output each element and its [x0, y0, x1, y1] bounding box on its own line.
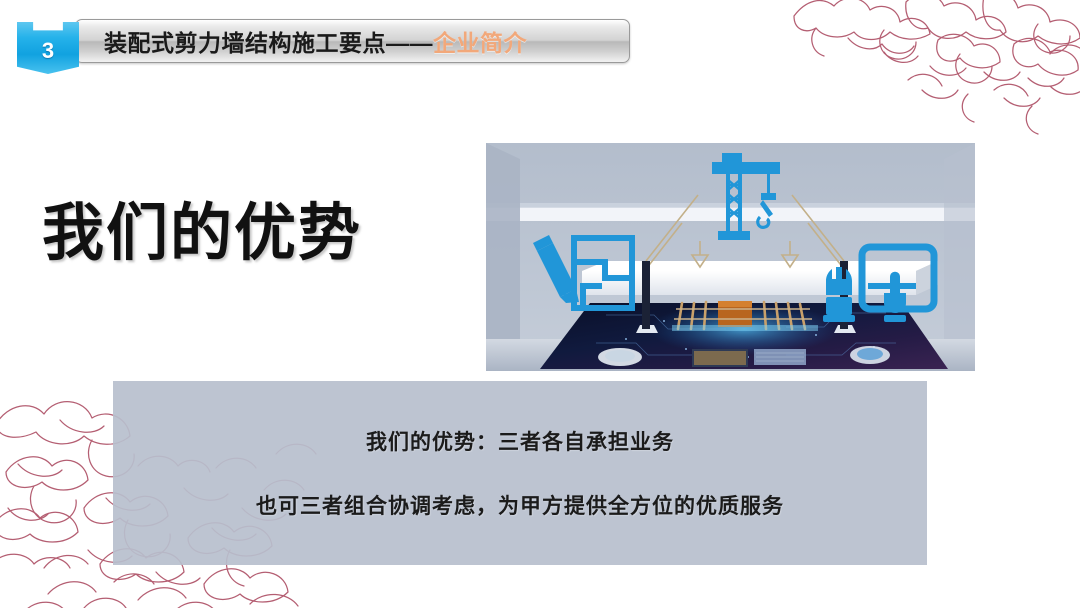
construction-illustration [486, 143, 975, 371]
slide-title: 装配式剪力墙结构施工要点—— 企业简介 [104, 19, 527, 63]
slide-title-main: 装配式剪力墙结构施工要点—— [104, 24, 433, 58]
advantages-line-2: 也可三者组合协调考虑，为甲方提供全方位的优质服务 [256, 490, 784, 520]
page-title: 我们的优势 [42, 182, 362, 272]
slide-number-text: 3 [42, 34, 54, 62]
advantages-panel: 我们的优势：三者各自承担业务 也可三者组合协调考虑，为甲方提供全方位的优质服务 [113, 381, 927, 565]
wrench-icon [823, 267, 855, 322]
advantages-line-1: 我们的优势：三者各自承担业务 [366, 426, 674, 456]
slide-number-badge: 3 [17, 22, 79, 74]
slide-title-accent: 企业简介 [433, 24, 527, 58]
slide-canvas: 3 装配式剪力墙结构施工要点—— 企业简介 我们的优势 [0, 0, 1080, 608]
